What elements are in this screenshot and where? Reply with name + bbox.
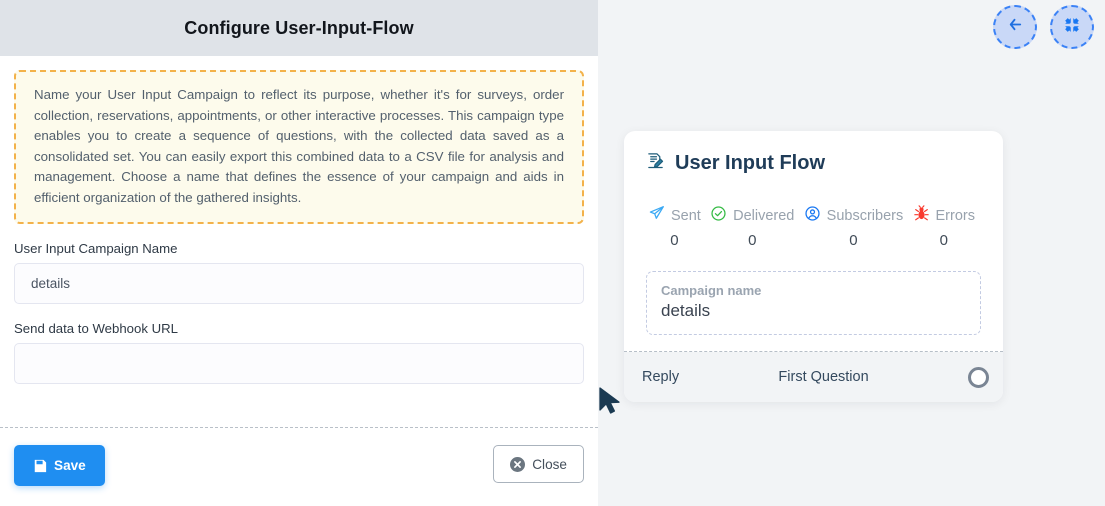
- campaign-name-input[interactable]: [14, 263, 584, 304]
- campaign-name-label: User Input Campaign Name: [14, 241, 584, 256]
- close-button[interactable]: Close: [493, 445, 584, 483]
- campaign-name-card-value: details: [661, 301, 966, 321]
- fit-view-button[interactable]: [1050, 5, 1094, 49]
- flow-node-stats: Sent 0 Delivered: [646, 205, 981, 249]
- paper-plane-icon: [648, 205, 665, 226]
- page-title: Configure User-Input-Flow: [184, 18, 413, 39]
- stat-subscribers: Subscribers 0: [804, 205, 904, 249]
- stat-sent: Sent 0: [648, 205, 701, 249]
- output-port-handle[interactable]: [968, 367, 989, 388]
- save-button-label: Save: [54, 458, 86, 473]
- campaign-name-card: Campaign name details: [646, 271, 981, 335]
- flow-node-header: User Input Flow: [646, 151, 981, 176]
- output-port-label: First Question: [778, 369, 868, 385]
- bug-icon: [913, 205, 930, 226]
- floppy-disk-icon: [33, 459, 47, 473]
- arrow-left-icon: [1006, 15, 1025, 39]
- info-callout: Name your User Input Campaign to reflect…: [14, 70, 584, 224]
- app-root: Configure User-Input-Flow Name your User…: [0, 0, 1105, 506]
- flow-node-title: User Input Flow: [675, 152, 825, 175]
- campaign-name-card-label: Campaign name: [661, 283, 966, 298]
- file-signature-icon: [646, 151, 665, 176]
- webhook-url-input[interactable]: [14, 343, 584, 384]
- stat-subscribers-label: Subscribers: [827, 208, 904, 224]
- save-button[interactable]: Save: [14, 445, 105, 486]
- modal-body: Name your User Input Campaign to reflect…: [0, 56, 598, 384]
- flow-canvas[interactable]: User Input Flow Sent 0: [598, 0, 1105, 506]
- stat-errors: Errors 0: [913, 205, 975, 249]
- configure-modal: Configure User-Input-Flow Name your User…: [0, 0, 598, 506]
- close-button-label: Close: [532, 457, 567, 472]
- stat-delivered-label: Delivered: [733, 208, 794, 224]
- stat-subscribers-value: 0: [804, 232, 904, 249]
- field-campaign-name: User Input Campaign Name: [14, 241, 584, 304]
- canvas-toolbar: [993, 5, 1094, 49]
- modal-footer: Save Close: [0, 428, 598, 506]
- stat-sent-value: 0: [648, 232, 701, 249]
- stat-delivered: Delivered 0: [710, 205, 794, 249]
- user-circle-icon: [804, 205, 821, 226]
- flow-node-ports: Reply First Question: [624, 352, 1003, 402]
- stat-sent-label: Sent: [671, 208, 701, 224]
- back-button[interactable]: [993, 5, 1037, 49]
- stat-errors-value: 0: [913, 232, 975, 249]
- field-webhook-url: Send data to Webhook URL: [14, 321, 584, 384]
- compress-arrows-icon: [1063, 16, 1081, 39]
- flow-node-user-input-flow[interactable]: User Input Flow Sent 0: [624, 131, 1003, 402]
- modal-header: Configure User-Input-Flow: [0, 0, 598, 56]
- webhook-url-label: Send data to Webhook URL: [14, 321, 584, 336]
- flow-node-body: User Input Flow Sent 0: [624, 131, 1003, 351]
- stat-delivered-value: 0: [710, 232, 794, 249]
- input-port-label: Reply: [642, 369, 679, 385]
- stat-errors-label: Errors: [936, 208, 975, 224]
- mouse-cursor-icon: [598, 386, 624, 416]
- check-circle-icon: [710, 205, 727, 226]
- circle-x-icon: [510, 457, 525, 472]
